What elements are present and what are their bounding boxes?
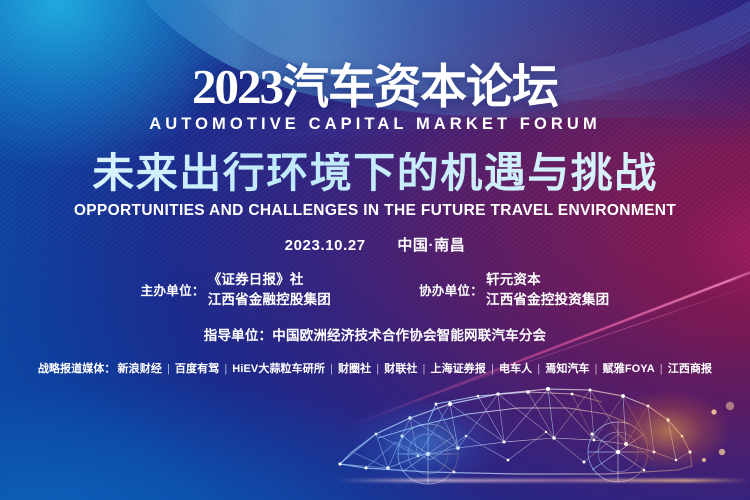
media-partners-label: 战略报道媒体： — [38, 363, 118, 375]
organizer-co-host-value-2: 江西省金控投资集团 — [486, 292, 609, 308]
subtitle-block: 未来出行环境下的机遇与挑战 OPPORTUNITIES AND CHALLENG… — [0, 152, 750, 219]
media-partner-item: 财联社 — [384, 363, 417, 375]
media-separator: | — [219, 363, 232, 375]
event-poster: 2023汽车资本论坛 AUTOMOTIVE CAPITAL MARKET FOR… — [0, 0, 750, 500]
media-partner-item: 焉知汽车 — [545, 363, 589, 375]
guidance-unit-line: 指导单位：中国欧洲经济技术合作协会智能网联汽车分会 — [0, 324, 750, 344]
main-title: 2023汽车资本论坛 — [192, 62, 558, 111]
event-date: 2023.10.27 — [285, 237, 366, 254]
organizer-co-host: 协办单位： 轩元资本 江西省金控投资集团 — [419, 272, 609, 307]
organizer-co-host-value-1: 轩元资本 — [486, 272, 609, 288]
title-year: 2023 — [192, 59, 282, 114]
media-separator: | — [325, 363, 338, 375]
media-separator: | — [371, 363, 384, 375]
media-separator: | — [162, 363, 175, 375]
subtitle-english: OPPORTUNITIES AND CHALLENGES IN THE FUTU… — [0, 203, 750, 219]
media-partners-items: 新浪财经|百度有驾|HiEV大蒜粒车研所|财圈社|财联社|上海证券报|电车人|焉… — [118, 363, 713, 375]
subtitle-chinese: 未来出行环境下的机遇与挑战 — [92, 152, 658, 194]
title-block: 2023汽车资本论坛 AUTOMOTIVE CAPITAL MARKET FOR… — [0, 62, 750, 133]
organizer-co-host-values: 轩元资本 江西省金控投资集团 — [486, 272, 609, 307]
media-separator: | — [532, 363, 545, 375]
event-location: 中国·南昌 — [397, 237, 465, 254]
media-separator: | — [590, 363, 603, 375]
organizer-host-value-1: 《证券日报》社 — [208, 272, 331, 288]
media-partner-item: 江西商报 — [668, 363, 712, 375]
organizer-host-value-2: 江西省金融控股集团 — [208, 292, 331, 308]
poster-content: 2023汽车资本论坛 AUTOMOTIVE CAPITAL MARKET FOR… — [0, 0, 750, 500]
media-partners-line: 战略报道媒体：新浪财经|百度有驾|HiEV大蒜粒车研所|财圈社|财联社|上海证券… — [0, 360, 750, 376]
date-location-line: 2023.10.27 中国·南昌 — [0, 234, 750, 255]
media-partner-item: 上海证券报 — [431, 363, 487, 375]
organizer-host-label: 主办单位： — [141, 280, 205, 299]
media-partner-item: 赋雅FOYA — [603, 363, 655, 375]
title-chinese: 汽车资本论坛 — [282, 60, 558, 113]
media-separator: | — [418, 363, 431, 375]
media-partner-item: HiEV大蒜粒车研所 — [232, 363, 325, 375]
organizer-host: 主办单位： 《证券日报》社 江西省金融控股集团 — [141, 272, 331, 307]
media-partner-item: 新浪财经 — [118, 363, 162, 375]
organizers-block: 主办单位： 《证券日报》社 江西省金融控股集团 协办单位： 轩元资本 江西省金控… — [0, 272, 750, 307]
media-partner-item: 财圈社 — [338, 363, 371, 375]
media-partner-item: 电车人 — [499, 363, 532, 375]
organizer-co-host-label: 协办单位： — [419, 280, 483, 299]
media-separator: | — [655, 363, 668, 375]
media-separator: | — [486, 363, 499, 375]
organizer-host-values: 《证券日报》社 江西省金融控股集团 — [208, 272, 331, 307]
title-english: AUTOMOTIVE CAPITAL MARKET FORUM — [0, 116, 750, 133]
media-partner-item: 百度有驾 — [175, 363, 219, 375]
